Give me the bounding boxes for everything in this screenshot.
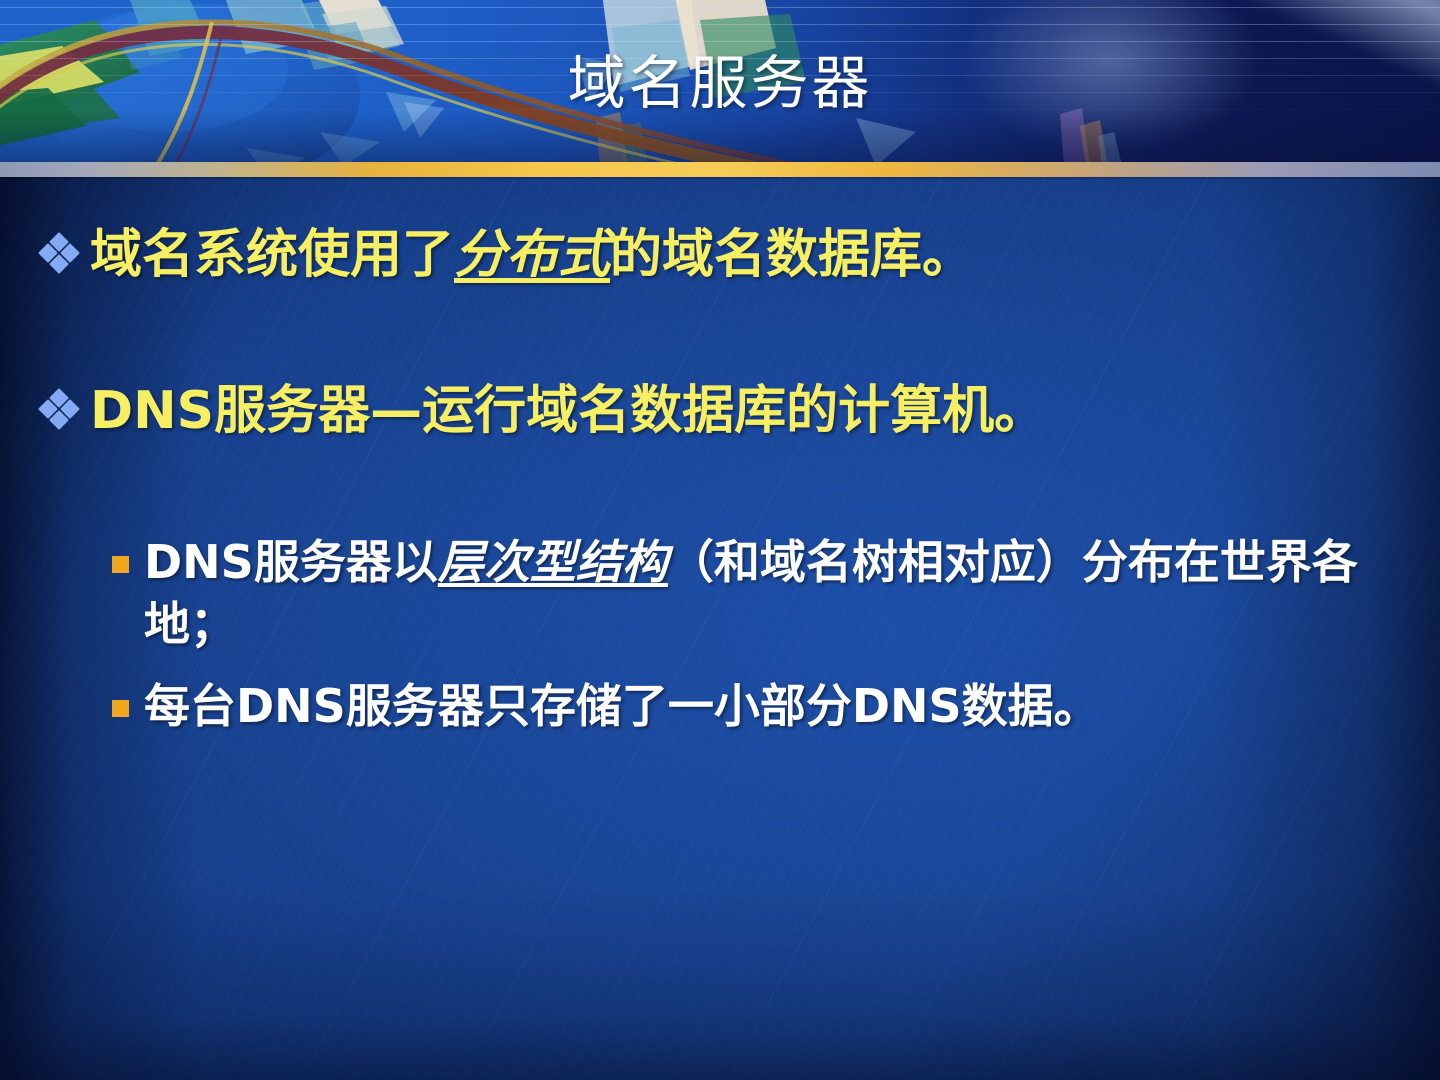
square-bullet-icon bbox=[112, 556, 129, 573]
slide-title: 域名服务器 bbox=[0, 50, 1440, 116]
text-segment: 的域名数据库。 bbox=[610, 225, 974, 285]
diamond-cluster-bullet-icon bbox=[40, 391, 80, 435]
text-segment-emphasis: 分布式 bbox=[454, 225, 610, 285]
bullet-item-level2: DNS服务器以层次型结构（和域名树相对应）分布在世界各地； bbox=[112, 531, 1422, 655]
text-segment: 服务器—运行域名数据库的计算机。 bbox=[214, 381, 1046, 441]
text-segment: 数据。 bbox=[962, 679, 1100, 733]
text-segment: DNS bbox=[90, 381, 214, 441]
header-divider-bar bbox=[0, 162, 1440, 177]
bullet-text-level1: DNS服务器—运行域名数据库的计算机。 bbox=[90, 379, 1046, 443]
text-segment: 服务器以 bbox=[254, 535, 438, 589]
bullet-text-level2: 每台DNS服务器只存储了一小部分DNS数据。 bbox=[144, 675, 1100, 737]
text-segment: 服务器只存储了一小部分 bbox=[346, 679, 852, 733]
text-segment: 每台 bbox=[144, 679, 236, 733]
text-segment: 域名系统使用了 bbox=[90, 225, 454, 285]
text-segment: DNS bbox=[236, 679, 346, 733]
presentation-slide: 域名服务器 域名系统使用了分布式的域名数据库。 DNS服务器—运行域名数据库的计… bbox=[0, 0, 1440, 1080]
text-segment: DNS bbox=[852, 679, 962, 733]
text-segment-emphasis: 层次型结构 bbox=[438, 535, 668, 589]
bullet-item-level2: 每台DNS服务器只存储了一小部分DNS数据。 bbox=[112, 675, 1422, 737]
bullet-item-level1: DNS服务器—运行域名数据库的计算机。 bbox=[40, 379, 1410, 443]
square-bullet-icon bbox=[112, 700, 129, 717]
bullet-text-level1: 域名系统使用了分布式的域名数据库。 bbox=[90, 223, 974, 287]
slide-content: 域名系统使用了分布式的域名数据库。 DNS服务器—运行域名数据库的计算机。 DN… bbox=[0, 177, 1440, 1080]
bullet-text-level2: DNS服务器以层次型结构（和域名树相对应）分布在世界各地； bbox=[144, 531, 1422, 655]
diamond-cluster-bullet-icon bbox=[40, 235, 80, 279]
text-segment: DNS bbox=[144, 535, 254, 589]
bullet-item-level1: 域名系统使用了分布式的域名数据库。 bbox=[40, 223, 1410, 287]
